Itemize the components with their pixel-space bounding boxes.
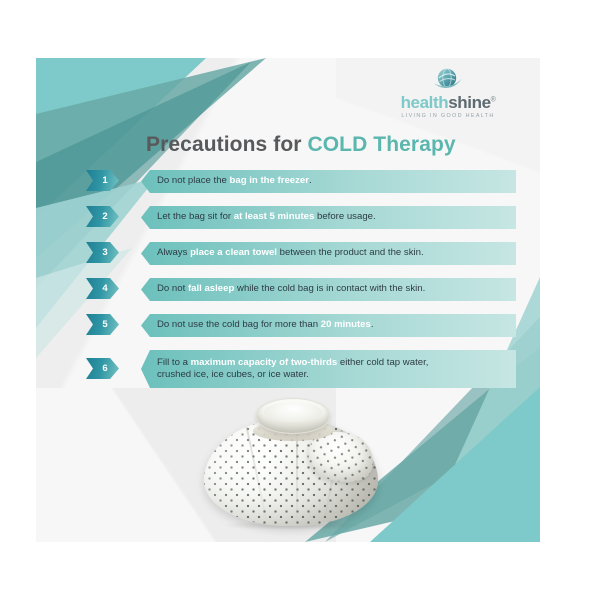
corner-ribbon-bottom-right-1: [370, 387, 540, 542]
precaution-text: Fill to a maximum capacity of two-thirds…: [157, 357, 428, 382]
precaution-text: Always place a clean towel between the p…: [157, 247, 424, 259]
precaution-text: Do not place the bag in the freezer.: [157, 175, 312, 187]
brand-name-part2: shine: [448, 93, 490, 112]
precaution-text-bar: Let the bag sit for at least 5 minutes b…: [141, 206, 516, 229]
step-number-badge: 3: [86, 242, 119, 263]
list-item: 3 Always place a clean towel between the…: [86, 242, 516, 265]
brand-name-part1: health: [401, 93, 449, 112]
brand-logo: healthshine® LIVING IN GOOD HEALTH: [378, 66, 518, 119]
list-item: 1 Do not place the bag in the freezer.: [86, 170, 516, 193]
precaution-text-bar: Always place a clean towel between the p…: [141, 242, 516, 265]
infographic-card: healthshine® LIVING IN GOOD HEALTH Preca…: [36, 58, 540, 542]
step-number-badge: 2: [86, 206, 119, 227]
step-number-badge: 6: [86, 358, 119, 379]
page-title-highlight: COLD Therapy: [307, 133, 455, 156]
page-title: Precautions for COLD Therapy: [146, 133, 456, 157]
list-item: 2 Let the bag sit for at least 5 minutes…: [86, 206, 516, 229]
brand-wordmark: healthshine®: [378, 94, 518, 111]
precaution-text-bar: Do not place the bag in the freezer.: [141, 170, 516, 193]
step-number-badge: 5: [86, 314, 119, 335]
product-image: [196, 388, 386, 533]
ice-bag-cap-opening: [264, 402, 322, 422]
registered-mark: ®: [491, 96, 496, 103]
step-number-badge: 1: [86, 170, 119, 191]
brand-tagline: LIVING IN GOOD HEALTH: [378, 113, 518, 119]
page-title-lead: Precautions for: [146, 133, 307, 156]
list-item: 5 Do not use the cold bag for more than …: [86, 314, 516, 337]
step-number-badge: 4: [86, 278, 119, 299]
precaution-text: Do not fall asleep while the cold bag is…: [157, 283, 425, 295]
precaution-text-bar: Do not use the cold bag for more than 20…: [141, 314, 516, 337]
precaution-text: Let the bag sit for at least 5 minutes b…: [157, 211, 376, 223]
list-item: 6 Fill to a maximum capacity of two-thir…: [86, 350, 516, 388]
list-item: 4 Do not fall asleep while the cold bag …: [86, 278, 516, 301]
precaution-text-bar: Do not fall asleep while the cold bag is…: [141, 278, 516, 301]
precaution-text: Do not use the cold bag for more than 20…: [157, 319, 374, 331]
globe-swoosh-icon: [378, 66, 518, 92]
precautions-list: 1 Do not place the bag in the freezer. 2…: [86, 170, 516, 401]
precaution-text-bar: Fill to a maximum capacity of two-thirds…: [141, 350, 516, 388]
